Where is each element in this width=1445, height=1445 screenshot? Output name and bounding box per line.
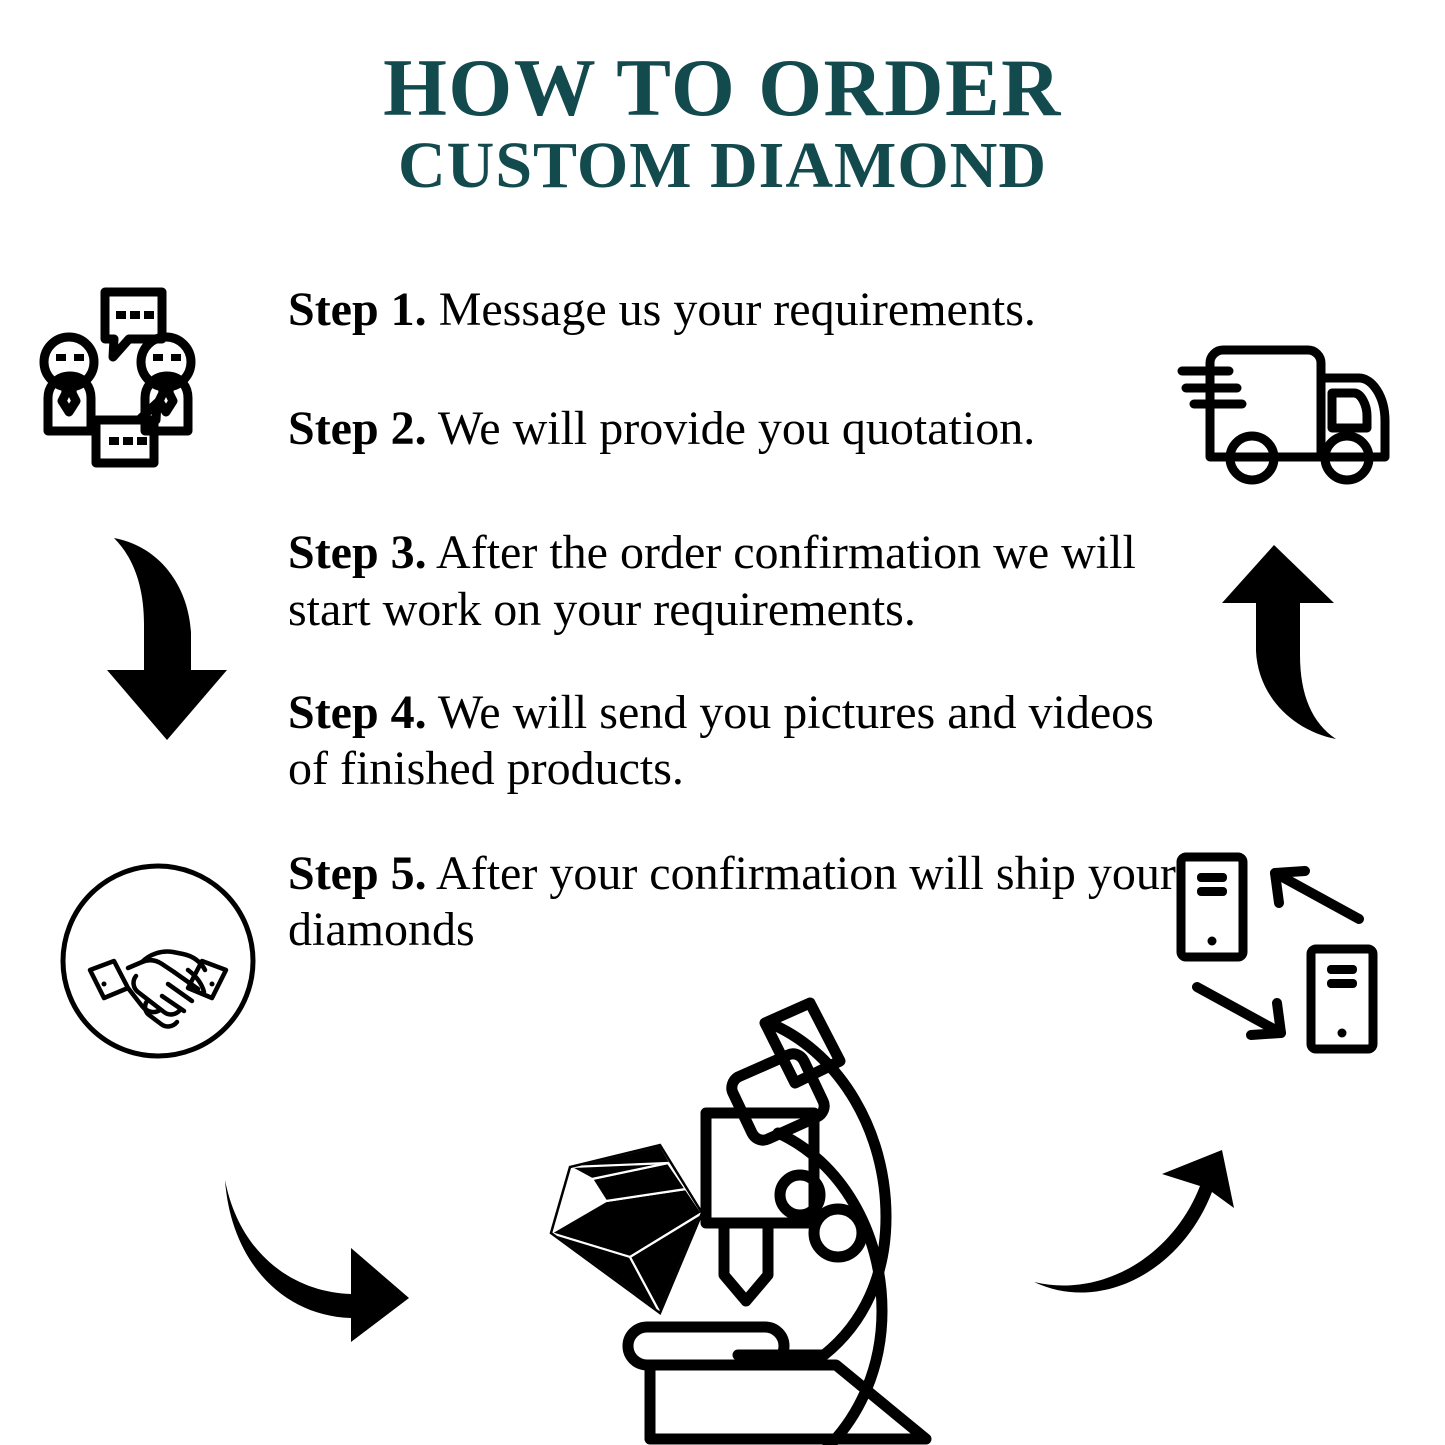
delivery-truck-icon bbox=[1172, 330, 1400, 488]
curved-arrow-down-icon bbox=[96, 528, 238, 750]
step-label-5: Step 5. bbox=[288, 847, 427, 900]
step-item-4: Step 4. We will send you pictures and vi… bbox=[288, 685, 1178, 798]
step-item-5: Step 5. After your confirmation will shi… bbox=[288, 846, 1178, 959]
handshake-circle-icon bbox=[56, 858, 261, 1064]
step-item-2: Step 2. We will provide you quotation. bbox=[288, 401, 1178, 458]
step-label-2: Step 2. bbox=[288, 402, 427, 455]
curved-arrow-up-icon bbox=[1212, 533, 1354, 755]
curved-arrow-upright-icon bbox=[1022, 1148, 1247, 1333]
steps-list: Step 1. Message us your requirements. St… bbox=[288, 282, 1178, 959]
infographic-page: HOW TO ORDER CUSTOM DIAMOND Step 1. Mess… bbox=[0, 0, 1445, 1445]
page-title: HOW TO ORDER CUSTOM DIAMOND bbox=[0, 48, 1445, 199]
step-item-1: Step 1. Message us your requirements. bbox=[288, 282, 1178, 339]
microscope-diamond-icon bbox=[510, 995, 960, 1445]
diamond-shape bbox=[551, 1145, 702, 1313]
step-text-2: We will provide you quotation. bbox=[427, 402, 1036, 455]
step-label-3: Step 3. bbox=[288, 526, 427, 579]
step-item-3: Step 3. After the order confirmation we … bbox=[288, 525, 1178, 638]
devices-exchange-icon bbox=[1165, 845, 1413, 1063]
step-label-1: Step 1. bbox=[288, 283, 427, 336]
step-label-4: Step 4. bbox=[288, 686, 427, 739]
title-line-2: CUSTOM DIAMOND bbox=[0, 134, 1445, 199]
chat-people-icon bbox=[34, 278, 249, 470]
title-line-1: HOW TO ORDER bbox=[0, 48, 1445, 128]
curved-arrow-right-icon bbox=[205, 1170, 425, 1350]
step-text-1: Message us your requirements. bbox=[427, 283, 1036, 336]
